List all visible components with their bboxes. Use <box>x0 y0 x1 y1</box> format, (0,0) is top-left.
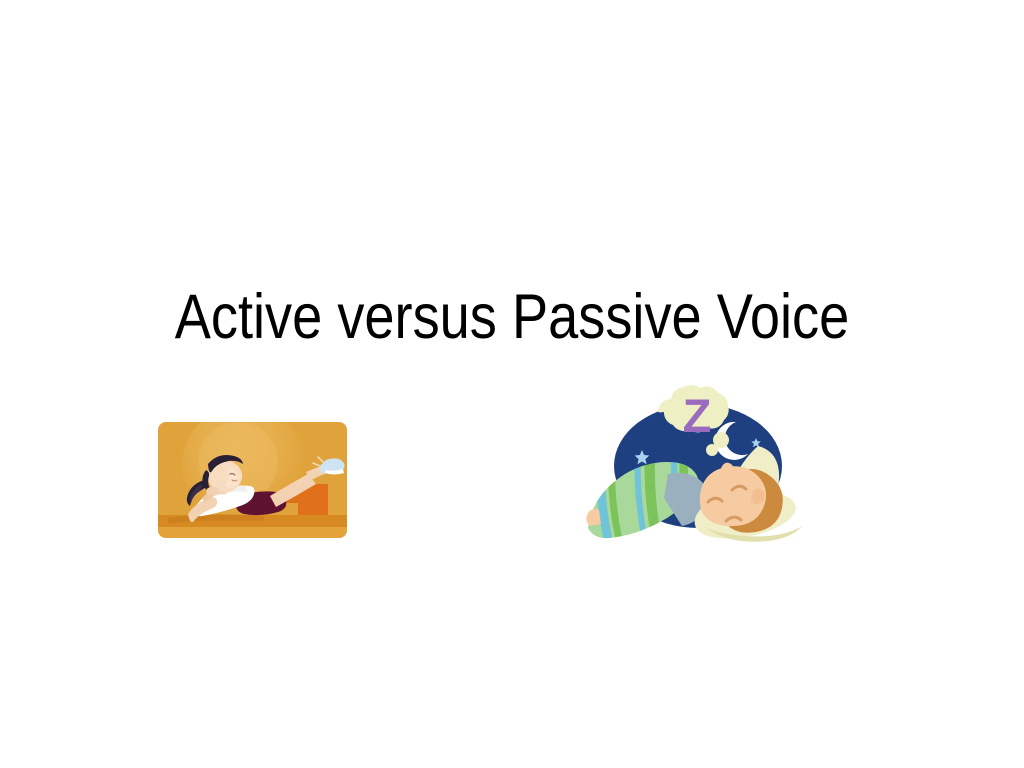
image-woman-doing-situps[interactable] <box>158 422 347 538</box>
sleeping-baby-illustration: Z <box>580 378 812 563</box>
floor-lower <box>158 527 347 538</box>
situps-illustration <box>158 422 347 538</box>
image-sleeping-baby[interactable]: Z <box>580 378 812 563</box>
foot <box>586 509 601 526</box>
page-title: Active versus Passive Voice <box>72 284 953 350</box>
slide-canvas: Active versus Passive Voice <box>0 0 1024 768</box>
letter-z: Z <box>683 389 712 442</box>
